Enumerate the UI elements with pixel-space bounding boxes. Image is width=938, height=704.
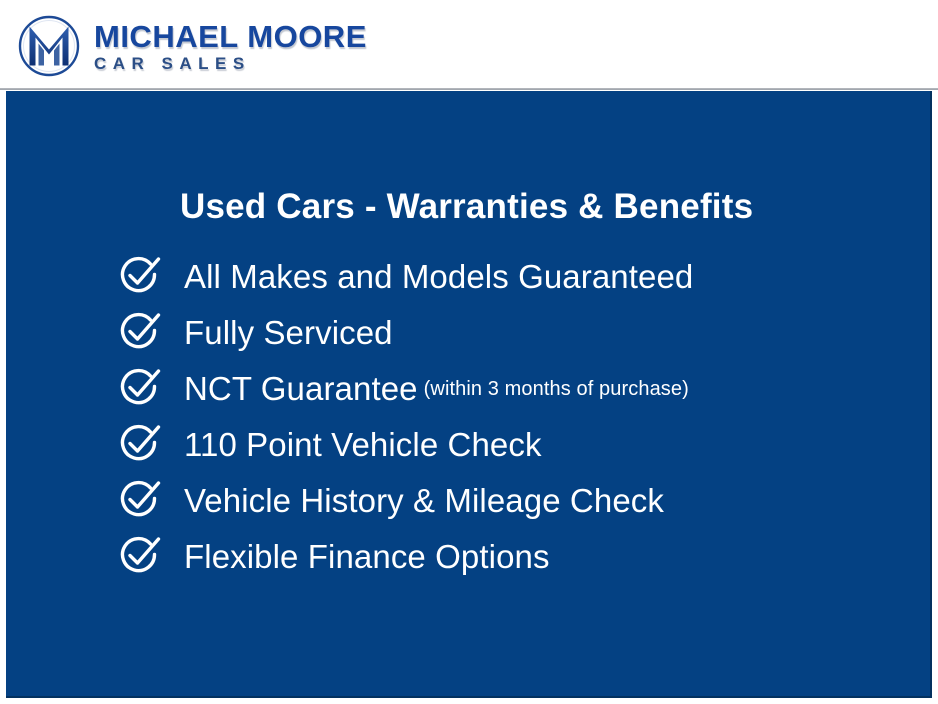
list-item-label: 110 Point Vehicle Check xyxy=(184,426,542,464)
check-circle-icon xyxy=(117,311,163,353)
slide: MICHAEL MOORE CAR SALES Used Cars - Warr… xyxy=(0,0,938,704)
check-circle-icon xyxy=(117,367,163,409)
list-item: Vehicle History & Mileage Check xyxy=(117,473,907,529)
list-item: Fully Serviced xyxy=(117,305,907,361)
company-tagline: CAR SALES xyxy=(94,54,367,74)
list-item: 110 Point Vehicle Check xyxy=(117,417,907,473)
list-item-label: Fully Serviced xyxy=(184,314,393,352)
circle-m-emblem-icon xyxy=(16,13,82,79)
list-item-note: (within 3 months of purchase) xyxy=(424,378,689,401)
check-circle-icon xyxy=(117,255,163,297)
check-circle-icon xyxy=(117,535,163,577)
list-item: All Makes and Models Guaranteed xyxy=(117,249,907,305)
slide-header: MICHAEL MOORE CAR SALES xyxy=(0,0,938,89)
list-item-label: Vehicle History & Mileage Check xyxy=(184,482,664,520)
list-item: NCT Guarantee (within 3 months of purcha… xyxy=(117,361,907,417)
check-circle-icon xyxy=(117,423,163,465)
list-item: Flexible Finance Options xyxy=(117,529,907,585)
list-item-label: Flexible Finance Options xyxy=(184,538,550,576)
company-logo: MICHAEL MOORE CAR SALES xyxy=(16,12,367,80)
list-item-label: NCT Guarantee xyxy=(184,370,418,408)
check-circle-icon xyxy=(117,479,163,521)
company-name: MICHAEL MOORE xyxy=(94,21,367,53)
slide-title: Used Cars - Warranties & Benefits xyxy=(180,185,753,229)
benefits-list: All Makes and Models Guaranteed Fully Se… xyxy=(117,249,907,585)
header-divider xyxy=(0,88,938,90)
logo-wordmark: MICHAEL MOORE CAR SALES xyxy=(94,19,367,74)
list-item-label: All Makes and Models Guaranteed xyxy=(184,258,693,296)
